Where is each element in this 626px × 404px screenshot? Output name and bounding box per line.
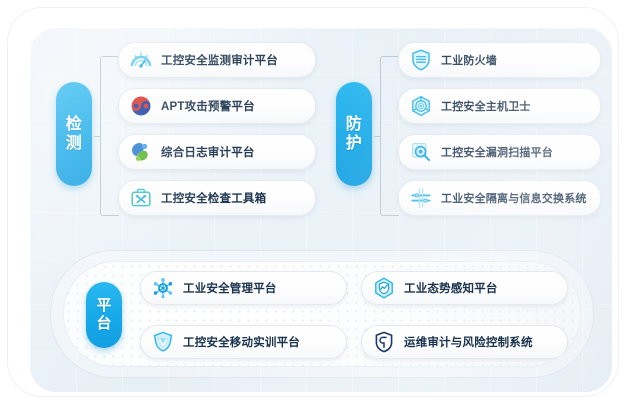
group-label-detect: 检 测	[56, 82, 92, 186]
group-label-detect-char-1: 检	[66, 115, 83, 134]
list-item-label: 工业安全管理平台	[183, 280, 277, 296]
list-item[interactable]: 工控安全监测审计平台	[118, 42, 316, 78]
list-item[interactable]: 工控安全移动实训平台	[140, 325, 347, 359]
list-item[interactable]: 工业态势感知平台	[361, 271, 568, 305]
shield-check-icon	[147, 326, 179, 358]
list-item-label: APT攻击预警平台	[161, 98, 255, 114]
network-nodes-icon	[147, 272, 179, 304]
platform-zone: 平 台	[50, 250, 594, 378]
list-item-label: 工业防火墙	[441, 52, 497, 68]
group-label-protect: 防 护	[336, 82, 372, 186]
gatekeeper-exchange-icon	[405, 182, 437, 214]
group-label-platform-char-1: 平	[96, 297, 111, 315]
radar-gauge-icon	[125, 44, 157, 76]
list-item[interactable]: 工控安全漏洞扫描平台	[398, 134, 601, 170]
group-label-platform: 平 台	[86, 282, 122, 348]
list-item[interactable]: 工业安全隔离与信息交换系统	[398, 180, 601, 216]
group-protect-items: 工业防火墙	[398, 42, 601, 216]
vulnerability-scan-icon	[405, 136, 437, 168]
log-leaves-icon	[125, 136, 157, 168]
list-item[interactable]: 工控安全主机卫士	[398, 88, 601, 124]
outer-frame: 检 测	[8, 8, 618, 396]
shield-firewall-icon	[405, 44, 437, 76]
shield-outline-icon	[368, 326, 400, 358]
bracket-detect	[100, 56, 119, 216]
list-item[interactable]: 工控安全检查工具箱	[118, 180, 316, 216]
list-item[interactable]: APT攻击预警平台	[118, 88, 316, 124]
group-label-protect-char-1: 防	[346, 115, 363, 134]
list-item-label: 工控安全监测审计平台	[161, 52, 278, 68]
taiji-circle-icon	[125, 90, 157, 122]
group-label-platform-char-2: 台	[96, 315, 111, 333]
top-zone: 检 测	[30, 28, 612, 242]
group-detect: 检 测	[40, 42, 320, 228]
platform-column-right: 工业态势感知平台 运维审计与风险控制系统	[361, 276, 568, 354]
group-label-detect-char-2: 测	[66, 134, 83, 153]
hex-shield-chart-icon	[368, 272, 400, 304]
bracket-protect	[380, 56, 399, 216]
list-item[interactable]: 工业安全管理平台	[140, 271, 347, 305]
diagram-canvas: 检 测	[0, 0, 626, 404]
list-item-label: 工控安全漏洞扫描平台	[441, 144, 553, 160]
list-item-label: 工业态势感知平台	[404, 280, 498, 296]
list-item-label: 工控安全主机卫士	[441, 98, 531, 114]
list-item[interactable]: 工业防火墙	[398, 42, 601, 78]
platform-inner: 平 台	[63, 261, 581, 367]
group-detect-items: 工控安全监测审计平台	[118, 42, 316, 216]
list-item-label: 运维审计与风险控制系统	[404, 334, 533, 350]
platform-columns: 工业安全管理平台 工控安全移动实训平	[140, 276, 568, 354]
host-guard-icon	[405, 90, 437, 122]
platform-column-left: 工业安全管理平台 工控安全移动实训平	[140, 276, 347, 354]
list-item-label: 工控安全检查工具箱	[161, 190, 266, 206]
list-item-label: 工业安全隔离与信息交换系统	[441, 190, 587, 206]
list-item[interactable]: 综合日志审计平台	[118, 134, 316, 170]
group-label-protect-char-2: 护	[346, 134, 363, 153]
toolbox-icon	[125, 182, 157, 214]
list-item-label: 工控安全移动实训平台	[183, 334, 300, 350]
diagram-board: 检 测	[30, 28, 612, 392]
list-item-label: 综合日志审计平台	[161, 144, 255, 160]
list-item[interactable]: 运维审计与风险控制系统	[361, 325, 568, 359]
group-protect: 防 护	[320, 42, 605, 228]
